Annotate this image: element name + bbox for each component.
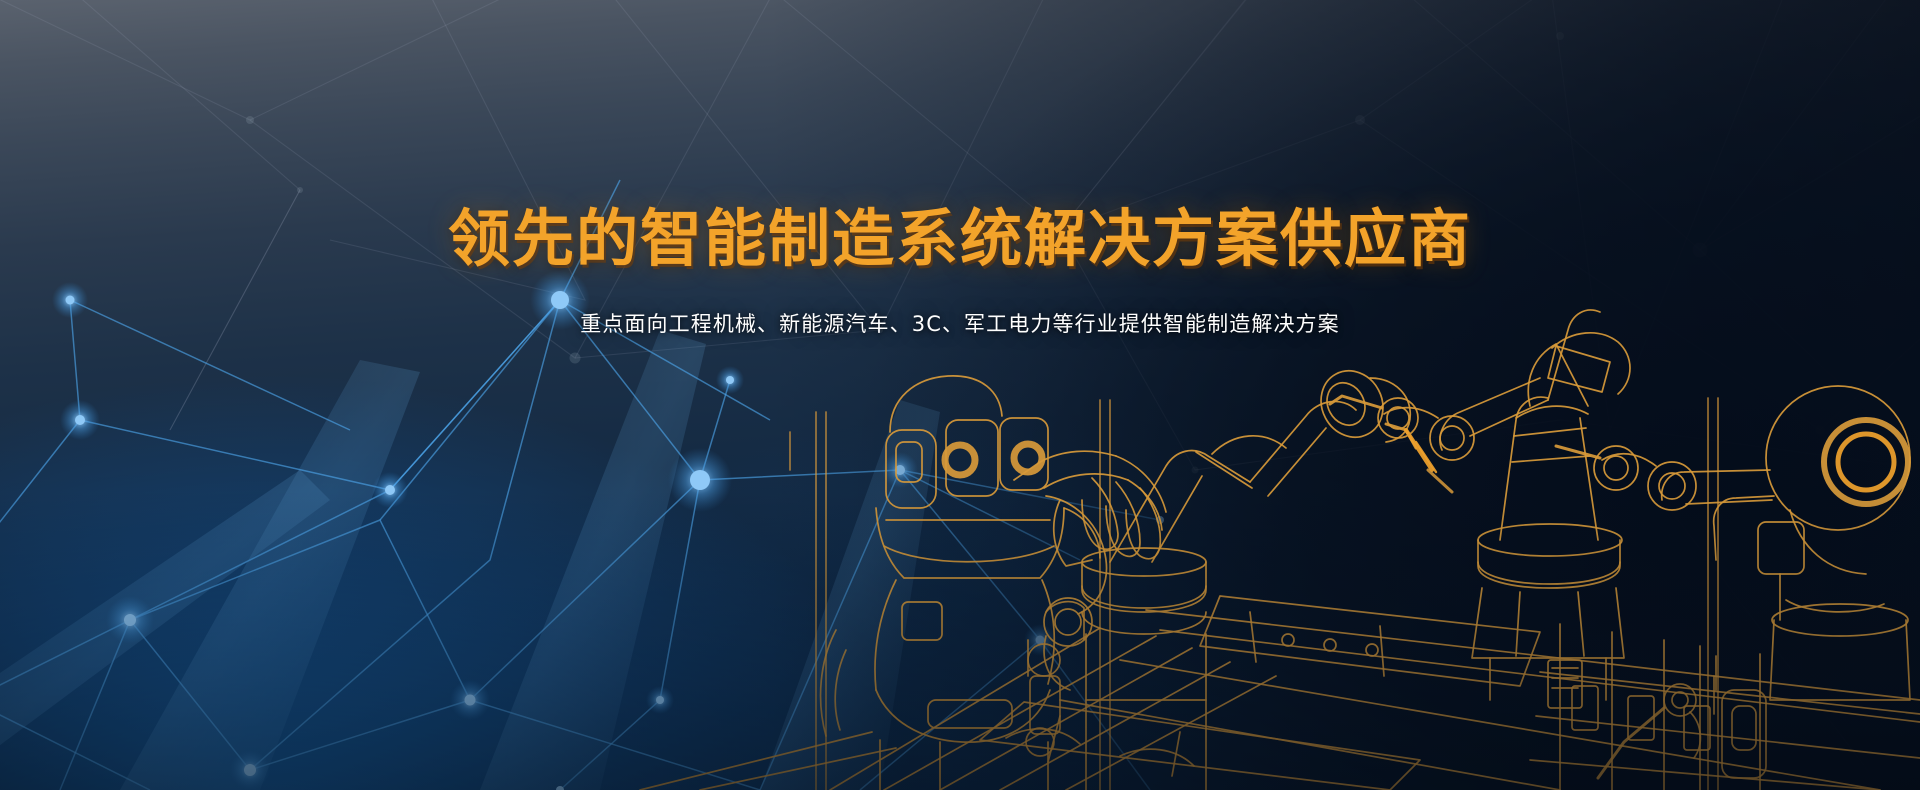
conveyor-line-icon <box>640 596 1920 790</box>
right-vignette <box>0 0 1920 790</box>
articulated-robot-arm-icon <box>1014 451 1166 566</box>
industrial-robot-arm-icon <box>1330 310 1630 708</box>
industrial-robots-illustration <box>0 0 1920 790</box>
page-title: 领先的智能制造系统解决方案供应商 <box>0 206 1920 272</box>
hero-banner: 领先的智能制造系统解决方案供应商 重点面向工程机械、新能源汽车、3C、军工电力等… <box>0 0 1920 790</box>
network-nodes-icon <box>0 0 1920 790</box>
hero-text-block: 领先的智能制造系统解决方案供应商 重点面向工程机械、新能源汽车、3C、军工电力等… <box>0 206 1920 338</box>
humanoid-robot-icon <box>1556 386 1910 700</box>
bottom-fade <box>0 0 1920 790</box>
page-subtitle: 重点面向工程机械、新能源汽车、3C、军工电力等行业提供智能制造解决方案 <box>0 308 1920 338</box>
welding-robot-icon <box>1598 656 1766 778</box>
welding-robot-icon <box>1082 360 1436 790</box>
polygon-network-icon <box>0 0 1920 790</box>
humanoid-robot-icon <box>875 376 1107 790</box>
